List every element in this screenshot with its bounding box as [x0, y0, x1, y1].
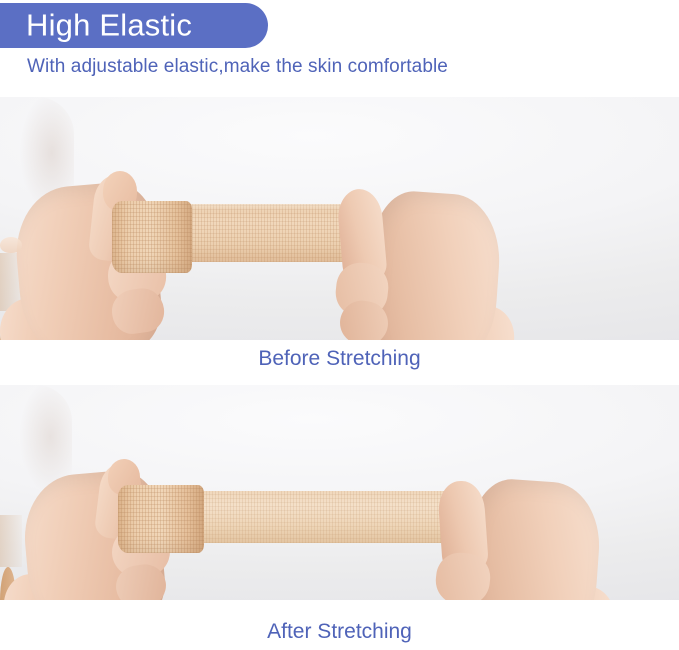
header: High Elastic With adjustable elastic,mak…: [0, 0, 679, 97]
bandage-roll: [112, 201, 192, 273]
bandage-strip-fold-after: [0, 515, 22, 567]
bandage-strip-unstretched: [186, 204, 358, 262]
caption-after-stretching: After Stretching: [0, 620, 679, 644]
high-elastic-badge: High Elastic: [0, 3, 268, 48]
bandage-strip-stretched: [200, 491, 458, 543]
caption-before-stretching: Before Stretching: [0, 347, 679, 371]
header-subtitle: With adjustable elastic,make the skin co…: [27, 56, 448, 78]
bandage-roll-after: [118, 485, 204, 553]
badge-title: High Elastic: [26, 7, 192, 43]
photo-after-stretching: [0, 385, 679, 600]
photo-before-stretching: [0, 97, 679, 340]
left-hand-fingernail: [0, 237, 22, 253]
